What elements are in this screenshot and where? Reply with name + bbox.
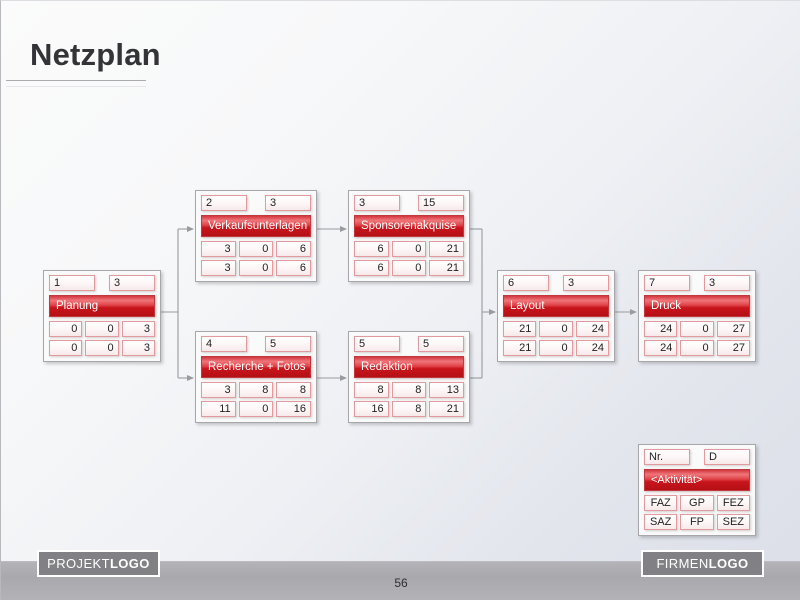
node-number: 7 xyxy=(644,275,690,291)
node-gp: 8 xyxy=(392,382,427,398)
slide: Netzplan xyxy=(0,0,800,600)
node-header-row: 4 5 xyxy=(201,336,311,352)
firmen-logo: FIRMENLOGO xyxy=(641,550,764,577)
legend-saz-label: SAZ xyxy=(644,514,677,530)
node-fez: 8 xyxy=(276,382,311,398)
node-gp: 0 xyxy=(239,241,274,257)
legend-row-early: FAZ GP FEZ xyxy=(644,495,750,511)
node-duration: 3 xyxy=(265,195,311,211)
node-fez: 6 xyxy=(276,241,311,257)
node-row-late: 21 0 24 xyxy=(503,340,609,356)
node-duration: 3 xyxy=(704,275,750,291)
node-fez: 13 xyxy=(429,382,464,398)
node-sez: 16 xyxy=(276,401,311,417)
node-row-early: 3 8 8 xyxy=(201,382,311,398)
node-gp: 0 xyxy=(392,241,427,257)
node-sez: 3 xyxy=(122,340,155,356)
node-fp: 0 xyxy=(239,401,274,417)
node-header-row: 7 3 xyxy=(644,275,750,291)
legend-header-row: Nr. D xyxy=(644,449,750,465)
node-header-row: 6 3 xyxy=(503,275,609,291)
node-saz: 24 xyxy=(644,340,677,356)
node-fez: 27 xyxy=(717,321,750,337)
node-duration: 5 xyxy=(418,336,464,352)
node-number: 6 xyxy=(503,275,549,291)
node-fp: 0 xyxy=(680,340,713,356)
network-diagram: 1 3 Planung 0 0 3 0 0 3 2 3 Verka xyxy=(1,1,800,600)
node-sez: 6 xyxy=(276,260,311,276)
firmen-logo-regular: FIRMEN xyxy=(656,556,708,571)
node-saz: 16 xyxy=(354,401,389,417)
node-title: Verkaufsunterlagen xyxy=(201,215,311,237)
node-row-late: 0 0 3 xyxy=(49,340,155,356)
node-row-late: 3 0 6 xyxy=(201,260,311,276)
node-number: 3 xyxy=(354,195,400,211)
node-druck[interactable]: 7 3 Druck 24 0 27 24 0 27 xyxy=(638,270,756,362)
node-row-early: 0 0 3 xyxy=(49,321,155,337)
node-fp: 0 xyxy=(85,340,118,356)
legend-row-late: SAZ FP SEZ xyxy=(644,514,750,530)
legend-faz-label: FAZ xyxy=(644,495,677,511)
node-row-late: 16 8 21 xyxy=(354,401,464,417)
node-fp: 0 xyxy=(239,260,274,276)
node-row-late: 24 0 27 xyxy=(644,340,750,356)
legend-fez-label: FEZ xyxy=(717,495,750,511)
node-row-early: 24 0 27 xyxy=(644,321,750,337)
legend-number-label: Nr. xyxy=(644,449,690,465)
node-title: Recherche + Fotos xyxy=(201,356,311,378)
node-faz: 6 xyxy=(354,241,389,257)
node-planung[interactable]: 1 3 Planung 0 0 3 0 0 3 xyxy=(43,270,161,362)
node-header-row: 1 3 xyxy=(49,275,155,291)
node-saz: 21 xyxy=(503,340,536,356)
node-sez: 24 xyxy=(576,340,609,356)
node-header-row: 3 15 xyxy=(354,195,464,211)
legend-sez-label: SEZ xyxy=(717,514,750,530)
node-header-row: 2 3 xyxy=(201,195,311,211)
node-duration: 3 xyxy=(563,275,609,291)
node-gp: 0 xyxy=(539,321,572,337)
node-redaktion[interactable]: 5 5 Redaktion 8 8 13 16 8 21 xyxy=(348,331,470,423)
node-duration: 3 xyxy=(109,275,155,291)
node-fez: 3 xyxy=(122,321,155,337)
node-fp: 8 xyxy=(392,401,427,417)
node-duration: 5 xyxy=(265,336,311,352)
projekt-logo: PROJEKTLOGO xyxy=(37,550,160,577)
node-sez: 21 xyxy=(429,260,464,276)
projekt-logo-regular: PROJEKT xyxy=(47,556,110,571)
legend-fp-label: FP xyxy=(680,514,713,530)
node-saz: 0 xyxy=(49,340,82,356)
legend-activity-label: <Aktivität> xyxy=(644,469,750,491)
node-saz: 3 xyxy=(201,260,236,276)
node-number: 4 xyxy=(201,336,247,352)
node-faz: 21 xyxy=(503,321,536,337)
node-faz: 0 xyxy=(49,321,82,337)
node-row-early: 21 0 24 xyxy=(503,321,609,337)
node-faz: 8 xyxy=(354,382,389,398)
node-duration: 15 xyxy=(418,195,464,211)
node-title: Layout xyxy=(503,295,609,317)
node-faz: 3 xyxy=(201,382,236,398)
node-faz: 3 xyxy=(201,241,236,257)
legend-gp-label: GP xyxy=(680,495,713,511)
node-saz: 6 xyxy=(354,260,389,276)
node-number: 1 xyxy=(49,275,95,291)
node-number: 2 xyxy=(201,195,247,211)
node-recherche-fotos[interactable]: 4 5 Recherche + Fotos 3 8 8 11 0 16 xyxy=(195,331,317,423)
node-sez: 21 xyxy=(429,401,464,417)
firmen-logo-bold: LOGO xyxy=(709,556,749,571)
node-sponsorenakquise[interactable]: 3 15 Sponsorenakquise 6 0 21 6 0 21 xyxy=(348,190,470,282)
node-title: Druck xyxy=(644,295,750,317)
node-sez: 27 xyxy=(717,340,750,356)
node-title: Planung xyxy=(49,295,155,317)
node-title: Redaktion xyxy=(354,356,464,378)
node-row-late: 11 0 16 xyxy=(201,401,311,417)
page-number: 56 xyxy=(1,576,800,590)
node-gp: 0 xyxy=(85,321,118,337)
legend-node: Nr. D <Aktivität> FAZ GP FEZ SAZ FP SEZ xyxy=(638,444,756,536)
node-fez: 21 xyxy=(429,241,464,257)
projekt-logo-bold: LOGO xyxy=(110,556,150,571)
node-row-early: 6 0 21 xyxy=(354,241,464,257)
node-row-late: 6 0 21 xyxy=(354,260,464,276)
node-fez: 24 xyxy=(576,321,609,337)
node-gp: 0 xyxy=(680,321,713,337)
node-fp: 0 xyxy=(392,260,427,276)
node-verkaufsunterlagen[interactable]: 2 3 Verkaufsunterlagen 3 0 6 3 0 6 xyxy=(195,190,317,282)
node-number: 5 xyxy=(354,336,400,352)
node-saz: 11 xyxy=(201,401,236,417)
node-row-early: 8 8 13 xyxy=(354,382,464,398)
node-header-row: 5 5 xyxy=(354,336,464,352)
legend-duration-label: D xyxy=(704,449,750,465)
node-faz: 24 xyxy=(644,321,677,337)
node-layout[interactable]: 6 3 Layout 21 0 24 21 0 24 xyxy=(497,270,615,362)
node-row-early: 3 0 6 xyxy=(201,241,311,257)
node-gp: 8 xyxy=(239,382,274,398)
node-fp: 0 xyxy=(539,340,572,356)
node-title: Sponsorenakquise xyxy=(354,215,464,237)
